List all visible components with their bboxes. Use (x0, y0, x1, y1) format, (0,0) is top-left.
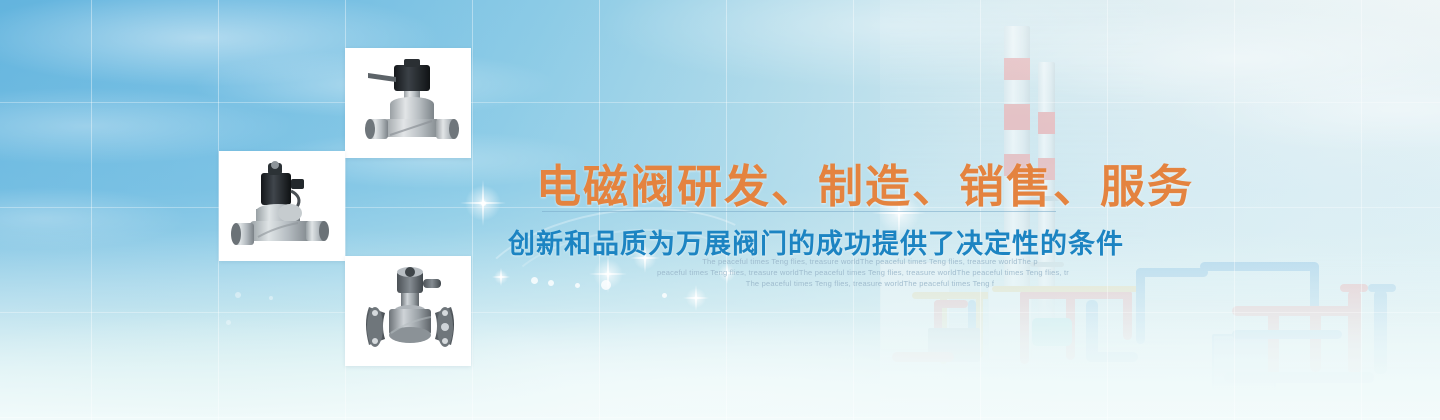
blurb-line-2: peaceful times Teng flies, treasure worl… (596, 267, 1130, 278)
blurb-line-3: The peaceful times Teng flies, treasure … (610, 278, 1130, 289)
title-divider (542, 211, 1056, 212)
banner-copy: 电磁阀研发、制造、销售、服务 创新和品质为万展阀门的成功提供了决定性的条件 Th… (0, 0, 1440, 420)
banner-blurb: The peaceful times Teng flies, treasure … (610, 256, 1130, 289)
blurb-line-1: The peaceful times Teng flies, treasure … (610, 256, 1130, 267)
hero-banner: 电磁阀研发、制造、销售、服务 创新和品质为万展阀门的成功提供了决定性的条件 Th… (0, 0, 1440, 420)
page-title: 电磁阀研发、制造、销售、服务 (536, 150, 1194, 215)
